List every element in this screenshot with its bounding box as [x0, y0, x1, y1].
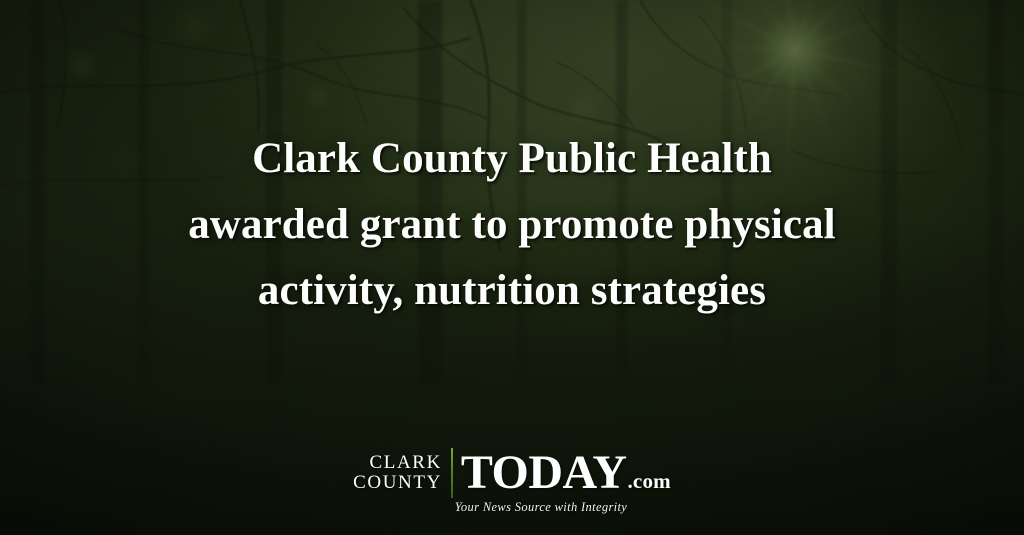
- headline-line-1: Clark County Public Health: [66, 126, 958, 192]
- headline: Clark County Public Health awarded grant…: [0, 126, 1024, 324]
- logo-suffix-dotcom: .com: [627, 471, 670, 492]
- logo-tagline: Your News Source with Integrity: [455, 500, 627, 515]
- logo-brand-county: COUNTY: [353, 473, 442, 494]
- logo-brand-clark: CLARK: [370, 453, 442, 474]
- headline-line-2: awarded grant to promote physical: [66, 192, 958, 258]
- article-share-card: Clark County Public Health awarded grant…: [0, 0, 1024, 535]
- headline-line-3: activity, nutrition strategies: [66, 258, 958, 324]
- logo-divider: [451, 448, 453, 498]
- logo-brand-stack: CLARK COUNTY: [353, 453, 451, 494]
- logo-wordmark-today: TODAY: [461, 449, 627, 497]
- clark-county-today-logo[interactable]: CLARK COUNTY TODAY .com Your News Source…: [0, 448, 1024, 515]
